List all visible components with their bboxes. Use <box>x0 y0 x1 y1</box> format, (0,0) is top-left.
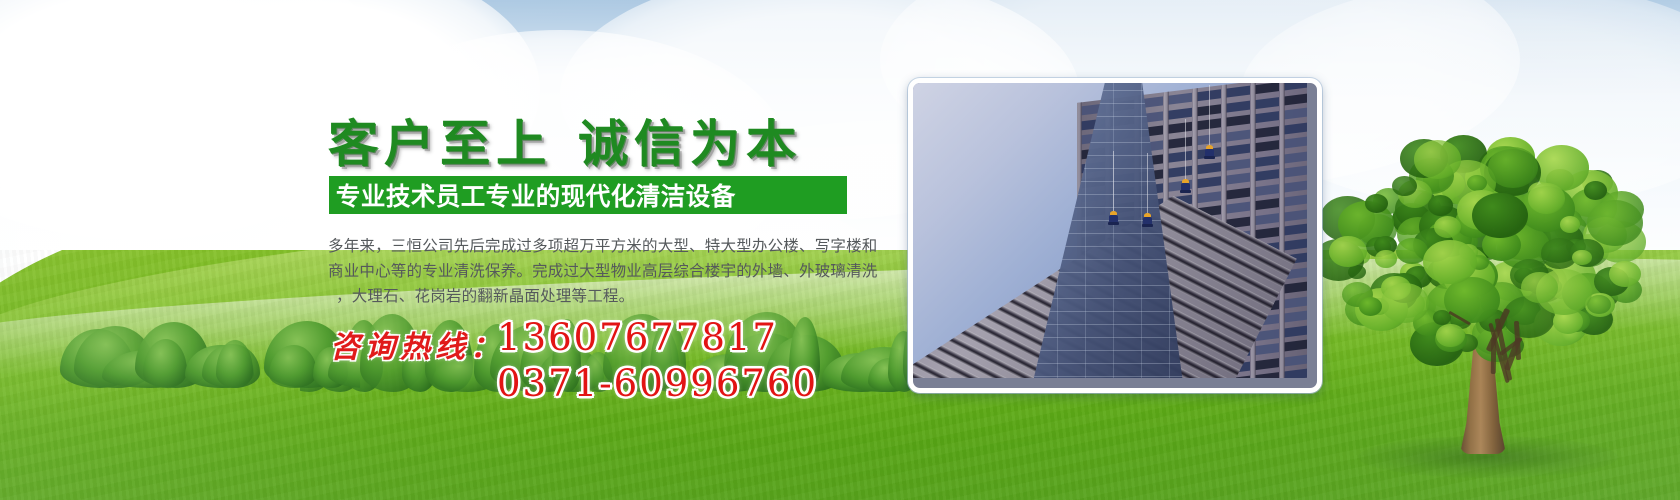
photo-window <box>1284 282 1307 294</box>
photo-window <box>1284 238 1307 250</box>
photo-window <box>1284 195 1307 207</box>
photo-glass-mullion-v <box>1113 83 1114 378</box>
rope-access-worker <box>1205 145 1214 160</box>
photo-window <box>1284 93 1307 105</box>
worker-seat <box>1108 222 1119 225</box>
photo-window <box>1284 122 1307 134</box>
photo-window <box>1226 173 1250 185</box>
photo-window <box>1226 115 1250 127</box>
photo-glass-mullion <box>1023 363 1183 364</box>
photo-window <box>1226 144 1250 156</box>
banner-content: 客户至上诚信为本 专业技术员工专业的现代化清洁设备 多年来，三恒公司先后完成过多… <box>0 0 1680 500</box>
photo-window <box>1284 369 1307 378</box>
headline-part-2: 诚信为本 <box>578 114 802 173</box>
photo-window <box>1284 325 1307 337</box>
worker-seat <box>1142 224 1153 227</box>
description-line-2: 商业中心等的专业清洗保养。完成过大型物业高层综合楼宇的外墙、外玻璃清洗 <box>328 259 888 284</box>
photo-window <box>1255 155 1279 167</box>
photo-window <box>1168 122 1192 134</box>
photo-window <box>1284 311 1307 323</box>
photo-window <box>1226 100 1250 112</box>
hotline-block: 咨询热线： <box>330 322 505 366</box>
photo-window <box>1284 224 1307 236</box>
worker-rope <box>1147 153 1148 215</box>
photo-pilaster <box>1280 83 1285 378</box>
photo-window <box>1168 136 1192 148</box>
photo-window <box>1255 111 1279 123</box>
photo-glass-mullion <box>1023 337 1183 338</box>
worker-rope <box>1209 85 1210 147</box>
photo-window <box>1284 137 1307 149</box>
photo-glass-mullion <box>1023 376 1183 377</box>
worker-rope <box>1185 119 1186 181</box>
photo-window <box>1168 93 1192 105</box>
photo-window <box>1168 151 1192 163</box>
description-line-1: 多年来，三恒公司先后完成过多项超万平方米的大型、特大型办公楼、写字楼和 <box>328 234 888 259</box>
hotline-phone-primary[interactable]: 13607677817 <box>497 316 778 359</box>
worker-seat <box>1180 190 1191 193</box>
photo-window <box>1255 184 1279 196</box>
photo-glass-mullion <box>1023 324 1183 325</box>
photo-window <box>1255 126 1279 138</box>
photo-window <box>1226 129 1250 141</box>
page-title: 客户至上诚信为本 <box>328 104 802 176</box>
photo-window <box>1284 151 1307 163</box>
photo-window <box>1255 343 1279 355</box>
rope-access-worker <box>1143 213 1152 228</box>
hero-banner: 客户至上诚信为本 专业技术员工专业的现代化清洁设备 多年来，三恒公司先后完成过多… <box>0 0 1680 500</box>
worker-rope <box>1113 151 1114 213</box>
photo-window <box>1197 162 1221 174</box>
photo-window <box>1255 227 1279 239</box>
photo-window <box>1255 213 1279 225</box>
subtitle-bar: 专业技术员工专业的现代化清洁设备 <box>329 176 847 214</box>
building-photo-inner <box>913 83 1307 378</box>
photo-window <box>1226 187 1250 199</box>
photo-glass-mullion-v <box>1141 83 1142 378</box>
headline-part-1: 客户至上 <box>328 114 552 173</box>
rope-access-worker <box>1181 179 1190 194</box>
hotline-phone-secondary[interactable]: 0371-60996760 <box>497 362 818 405</box>
photo-window <box>1284 166 1307 178</box>
description-paragraph: 多年来，三恒公司先后完成过多项超万平方米的大型、特大型办公楼、写字楼和 商业中心… <box>328 234 888 309</box>
photo-window <box>1255 83 1279 94</box>
description-line-3: ，大理石、花岗岩的翻新晶面处理等工程。 <box>328 284 888 309</box>
photo-window <box>1255 169 1279 181</box>
photo-window <box>1226 202 1250 214</box>
photo-window <box>1255 97 1279 109</box>
photo-window <box>1284 340 1307 352</box>
photo-window <box>1284 83 1307 91</box>
photo-window <box>1255 358 1279 370</box>
photo-window <box>1284 180 1307 192</box>
photo-window <box>1168 107 1192 119</box>
building-photo[interactable] <box>908 78 1322 393</box>
photo-window <box>1197 191 1221 203</box>
photo-window <box>1255 198 1279 210</box>
photo-window <box>1255 140 1279 152</box>
photo-window <box>1226 158 1250 170</box>
photo-window <box>1226 86 1250 98</box>
hotline-label: 咨询热线： <box>330 322 505 366</box>
subtitle-bar-label: 专业技术员工专业的现代化清洁设备 <box>329 177 736 213</box>
photo-window <box>1255 372 1279 378</box>
photo-window <box>1197 176 1221 188</box>
worker-seat <box>1204 156 1215 159</box>
photo-glass-mullion <box>1023 350 1183 351</box>
photo-window <box>1284 296 1307 308</box>
photo-window <box>1284 108 1307 120</box>
photo-window <box>1168 165 1192 177</box>
rope-access-worker <box>1109 211 1118 226</box>
photo-window <box>1284 354 1307 366</box>
photo-window <box>1284 209 1307 221</box>
